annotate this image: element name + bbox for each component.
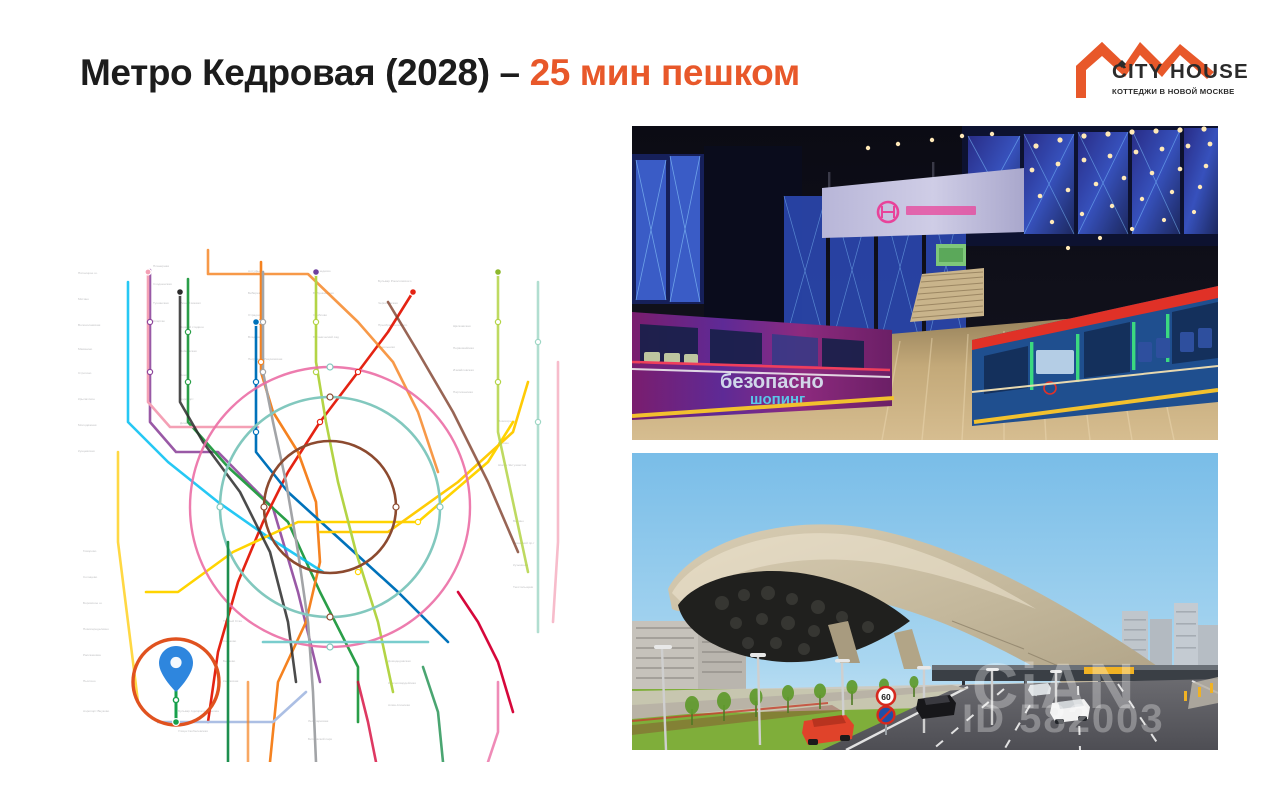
title-main-text: Метро Кедровая (2028) (80, 52, 490, 93)
svg-text:Водный стадион: Водный стадион (180, 325, 204, 329)
svg-text:Лесопарковая: Лесопарковая (308, 719, 329, 723)
logo-text-block: CITY HOUSE КОТТЕДЖИ В НОВОЙ МОСКВЕ (1112, 62, 1227, 96)
svg-text:Бульвар Рокоссовского: Бульвар Рокоссовского (378, 279, 412, 283)
svg-text:Митино: Митино (78, 297, 89, 301)
station-interior-illustration: безопасно шопинг (632, 126, 1218, 440)
station-exterior-illustration: 60 (632, 453, 1218, 750)
svg-text:Калужская: Калужская (223, 679, 239, 683)
brand-logo[interactable]: CITY HOUSE КОТТЕДЖИ В НОВОЙ МОСКВЕ (1062, 36, 1227, 106)
white-sedan (1050, 699, 1090, 724)
svg-text:Крылатское: Крылатское (78, 397, 95, 401)
svg-text:Шоссе Энтузиастов: Шоссе Энтузиастов (498, 463, 527, 467)
svg-text:Битцевский парк: Битцевский парк (308, 737, 333, 741)
svg-text:Боровское ш.: Боровское ш. (83, 601, 103, 605)
svg-text:Сходненская: Сходненская (153, 282, 172, 286)
slide-root: Метро Кедровая (2028) – 25 мин пешком CI… (0, 0, 1280, 800)
svg-text:Измайловская: Измайловская (453, 368, 474, 372)
title-accent-text: 25 мин пешком (530, 52, 800, 93)
svg-text:Аэропорт Внуково: Аэропорт Внуково (83, 709, 110, 713)
svg-text:Мякинино: Мякинино (78, 347, 92, 351)
svg-text:Новопеределкино: Новопеределкино (83, 627, 109, 631)
page-title: Метро Кедровая (2028) – 25 мин пешком (80, 52, 800, 94)
svg-text:Домодедовская: Домодедовская (388, 659, 411, 663)
metro-map-svg: Пятницкое ш.Митино ВолоколамскаяМякинино… (58, 122, 603, 762)
svg-text:Строгино: Строгино (78, 371, 92, 375)
svg-text:Улица Скобелевская: Улица Скобелевская (178, 729, 208, 733)
logo-tagline: КОТТЕДЖИ В НОВОЙ МОСКВЕ (1112, 87, 1227, 96)
svg-text:Волоколамская: Волоколамская (78, 323, 101, 327)
svg-text:Коньково: Коньково (223, 639, 237, 643)
svg-text:Кунцевская: Кунцевская (78, 449, 95, 453)
logo-brand-name: CITY HOUSE (1112, 62, 1227, 83)
title-dash: – (490, 52, 530, 93)
svg-text:Петровско-Разумовская: Петровско-Разумовская (248, 357, 283, 361)
black-suv (916, 695, 956, 719)
svg-text:Спартак: Спартак (153, 319, 165, 323)
svg-text:Алма-Атинская: Алма-Атинская (388, 703, 410, 707)
svg-text:Партизанская: Партизанская (453, 390, 473, 394)
grey-car (1028, 683, 1051, 696)
slide-header: Метро Кедровая (2028) – 25 мин пешком CI… (0, 0, 1280, 120)
svg-text:Текстильщики: Текстильщики (513, 585, 534, 589)
svg-text:Рассказовка: Рассказовка (83, 653, 101, 657)
svg-text:Речной вокзал: Речной вокзал (180, 301, 201, 305)
metro-map[interactable]: Пятницкое ш.Митино ВолоколамскаяМякинино… (58, 122, 603, 762)
svg-text:Тушинская: Тушинская (153, 301, 169, 305)
photo-station-exterior[interactable]: 60 (632, 453, 1218, 750)
svg-text:Планерная: Планерная (153, 264, 169, 268)
svg-text:Пыхтино: Пыхтино (83, 679, 96, 683)
svg-text:Молодёжная: Молодёжная (78, 423, 97, 427)
svg-text:Рязанский пр-т: Рязанский пр-т (513, 541, 535, 545)
svg-text:Первомайская: Первомайская (453, 346, 474, 350)
speed-limit-value: 60 (881, 692, 891, 702)
photo-station-interior[interactable]: безопасно шопинг (632, 126, 1218, 440)
svg-text:Щёлковская: Щёлковская (453, 324, 471, 328)
svg-text:Бульвар Адмирала Ушакова: Бульвар Адмирала Ушакова (178, 709, 219, 713)
svg-text:Солнцево: Солнцево (83, 575, 97, 579)
svg-text:Говорово: Говорово (83, 549, 97, 553)
purple-train: безопасно шопинг (632, 312, 892, 420)
svg-text:Пятницкое ш.: Пятницкое ш. (78, 271, 98, 275)
